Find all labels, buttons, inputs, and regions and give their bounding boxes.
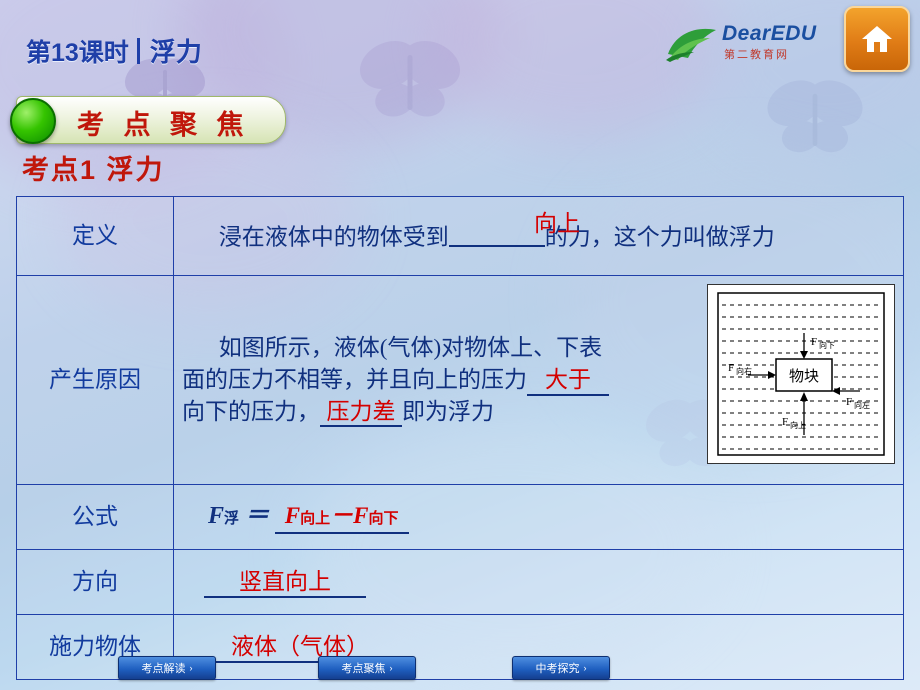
direction-answer: 竖直向上 [204, 569, 366, 597]
footer-button-zhongkao-tanjiu[interactable]: 中考探究 › [512, 656, 610, 680]
definition-text-before: 浸在液体中的物体受到 [219, 225, 449, 250]
formula-equals: ＝ [245, 503, 269, 529]
chevron-right-icon: › [190, 663, 193, 673]
logo-name: DearEDU [722, 22, 817, 46]
title-separator [137, 38, 140, 64]
dearedu-logo: DearEDU 第二教育网 [664, 18, 844, 70]
pressure-diagram-svg: 物块 F 向下 F 向右 F 向左 [708, 285, 894, 463]
lesson-number: 第13课时 [26, 33, 129, 69]
table-row: 公式 F浮 ＝ F向上－F向下 [17, 485, 904, 550]
table-row: 产生原因 如图所示，液体(气体)对物体上、下表 面的压力不相等，并且向上的压力大… [17, 276, 904, 485]
footer-button-label: 考点聚焦 [342, 660, 386, 676]
definition-blank-line [449, 218, 545, 246]
leaf-icon [664, 24, 720, 64]
row-label-formula: 公式 [17, 485, 174, 550]
table-row: 方向 竖直向上 [17, 550, 904, 615]
focus-banner: 考 点 聚 焦 [16, 96, 286, 144]
chevron-right-icon: › [390, 663, 393, 673]
cause-line-2: 面的压力不相等，并且向上的压力大于 [182, 364, 693, 396]
footer-button-kaodian-jiedu[interactable]: 考点解读 › [118, 656, 216, 680]
footer-button-label: 中考探究 [536, 660, 580, 676]
row-content-direction: 竖直向上 [174, 550, 904, 615]
cause-blank-1: 大于 [527, 367, 609, 395]
home-button[interactable] [844, 6, 910, 72]
svg-text:F: F [728, 362, 734, 374]
cause-line-3-text: 向下的压力， [182, 399, 320, 424]
svg-text:向上: 向上 [790, 420, 806, 430]
green-bullet-icon [10, 98, 56, 144]
svg-text:向右: 向右 [736, 366, 752, 376]
footer-nav: 考点解读 › 考点聚焦 › 中考探究 › [0, 656, 920, 682]
slide-header: 第13课时 浮力 DearEDU 第二教育网 [0, 0, 920, 88]
row-label-direction: 方向 [17, 550, 174, 615]
cause-line-3-tail: 即为浮力 [402, 399, 494, 424]
page-title: 第13课时 浮力 [26, 32, 202, 69]
row-label-cause: 产生原因 [17, 276, 174, 485]
definition-answer: 向上 [534, 204, 580, 238]
row-content-cause: 如图所示，液体(气体)对物体上、下表 面的压力不相等，并且向上的压力大于 向下的… [174, 276, 904, 485]
formula-rhs: F向上－F向下 [275, 500, 409, 534]
focus-banner-label: 考 点 聚 焦 [77, 103, 250, 142]
cause-blank-2: 压力差 [320, 399, 402, 427]
svg-text:F: F [846, 396, 852, 408]
cause-line-1: 如图所示，液体(气体)对物体上、下表 [182, 332, 693, 364]
row-label-definition: 定义 [17, 197, 174, 276]
section-heading: 考点1 浮力 [22, 148, 165, 187]
chevron-right-icon: › [584, 663, 587, 673]
concept-table: 定义 浸在液体中的物体受到的力，这个力叫做浮力 产生原因 如图所示，液体(气体)… [16, 196, 904, 680]
pressure-diagram: 物块 F 向下 F 向右 F 向左 [707, 284, 895, 464]
formula-lhs: F浮 [208, 503, 245, 529]
lesson-topic: 浮力 [150, 32, 202, 69]
table-row: 定义 浸在液体中的物体受到的力，这个力叫做浮力 [17, 197, 904, 276]
logo-subtitle: 第二教育网 [724, 46, 789, 62]
svg-text:F: F [782, 416, 788, 428]
home-icon [860, 23, 894, 55]
cause-line-3: 向下的压力，压力差即为浮力 [182, 396, 693, 428]
footer-button-label: 考点解读 [142, 660, 186, 676]
footer-button-kaodian-jujiao[interactable]: 考点聚焦 › [318, 656, 416, 680]
cause-line-2-text: 面的压力不相等，并且向上的压力 [182, 367, 527, 392]
svg-text:F: F [811, 336, 817, 348]
svg-text:向下: 向下 [819, 340, 835, 350]
row-content-formula: F浮 ＝ F向上－F向下 [174, 485, 904, 550]
svg-text:向左: 向左 [854, 400, 870, 410]
svg-text:物块: 物块 [789, 368, 819, 385]
